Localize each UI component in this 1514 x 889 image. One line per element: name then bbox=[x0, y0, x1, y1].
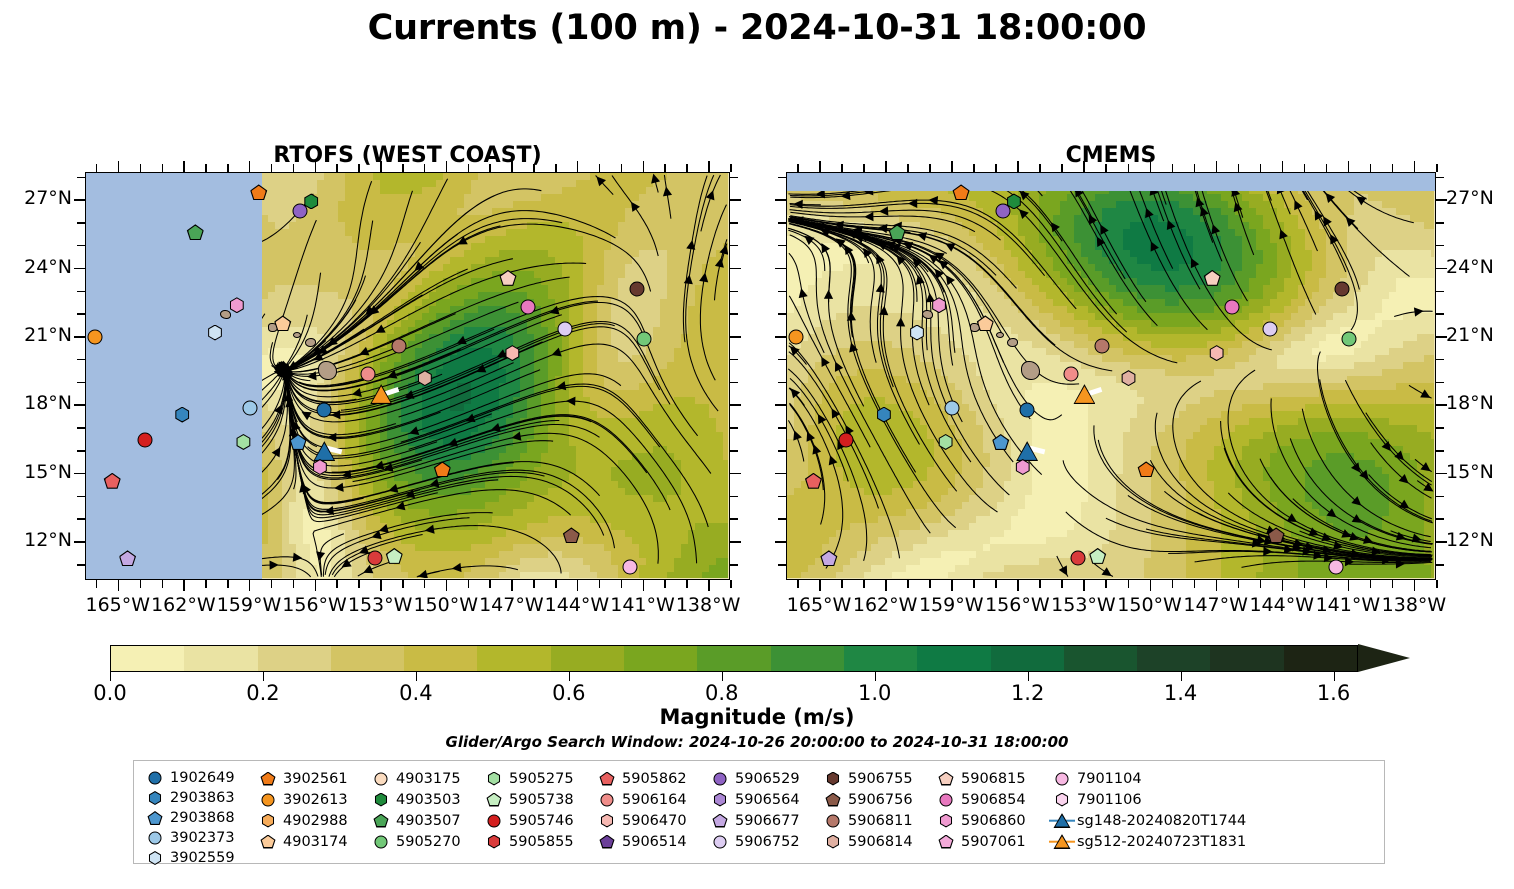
legend-label: 7901104 bbox=[1075, 771, 1142, 787]
legend-item-3902373[interactable]: 3902373 bbox=[142, 828, 255, 848]
marker-glyph bbox=[1225, 300, 1240, 315]
marker-glyph bbox=[187, 224, 204, 240]
x-axis-tick bbox=[140, 164, 142, 172]
marker-glyph bbox=[623, 560, 638, 575]
legend-label: 5905746 bbox=[507, 813, 574, 829]
legend-item-5906564[interactable]: 5906564 bbox=[707, 789, 820, 810]
legend-marker bbox=[594, 769, 620, 789]
y-axis-tick bbox=[77, 382, 85, 384]
x-axis-tick bbox=[951, 161, 953, 172]
map-marker-5906854[interactable] bbox=[517, 296, 539, 318]
map-marker-3902559[interactable] bbox=[204, 322, 226, 344]
y-axis-tick bbox=[775, 404, 786, 406]
y-axis-label-right: 24°N bbox=[1446, 256, 1514, 278]
legend-marker bbox=[820, 832, 846, 852]
x-axis-tick bbox=[841, 580, 843, 588]
y-axis-tick bbox=[778, 496, 786, 498]
marker-glyph bbox=[242, 400, 257, 415]
y-axis-tick bbox=[730, 359, 738, 361]
x-axis-tick bbox=[621, 164, 623, 172]
colorbar-tick-label: 1.0 bbox=[845, 681, 905, 705]
legend-marker bbox=[368, 790, 394, 810]
map-marker-7901104[interactable] bbox=[1325, 556, 1347, 578]
map-marker-2903868[interactable] bbox=[990, 431, 1012, 453]
marker-glyph bbox=[1328, 560, 1343, 575]
map-marker-5906470[interactable] bbox=[501, 342, 523, 364]
legend-marker bbox=[1049, 832, 1075, 852]
marker-glyph bbox=[939, 814, 953, 828]
x-axis-tick bbox=[293, 580, 295, 588]
y-axis-tick bbox=[730, 222, 738, 224]
map-marker-5905862[interactable] bbox=[101, 470, 123, 492]
x-axis-tick bbox=[1172, 164, 1174, 172]
colorbar-band-6 bbox=[551, 646, 624, 671]
marker-glyph bbox=[262, 793, 275, 806]
x-axis-tick bbox=[1039, 580, 1041, 588]
map-marker-5906164[interactable] bbox=[1060, 363, 1082, 385]
colorbar-band-4 bbox=[404, 646, 477, 671]
y-axis-tick bbox=[778, 564, 786, 566]
map-marker-3902559[interactable] bbox=[906, 322, 928, 344]
legend-item-3902613[interactable]: 3902613 bbox=[255, 789, 368, 810]
marker-glyph bbox=[312, 459, 328, 475]
legend-label: 5905270 bbox=[394, 834, 461, 850]
map-marker-5906814[interactable] bbox=[414, 367, 436, 389]
x-axis-tick bbox=[1436, 580, 1438, 588]
legend-item-5906164[interactable]: 5906164 bbox=[594, 789, 707, 810]
map-marker-4903174[interactable] bbox=[272, 312, 294, 334]
y-axis-tick bbox=[1436, 496, 1444, 498]
x-axis-tick bbox=[1039, 164, 1041, 172]
nodata-region-cmems bbox=[787, 173, 1435, 191]
legend-marker bbox=[255, 790, 281, 810]
map-marker-5905270[interactable] bbox=[1338, 328, 1360, 350]
legend-item-5906755[interactable]: 5906755 bbox=[820, 768, 933, 789]
map-marker-5906470[interactable] bbox=[1206, 342, 1228, 364]
colorbar-band-5 bbox=[477, 646, 550, 671]
x-axis-tick bbox=[118, 580, 120, 591]
marker-glyph bbox=[600, 835, 615, 849]
y-axis-tick bbox=[1436, 564, 1444, 566]
marker-glyph bbox=[499, 270, 516, 286]
y-axis-tick bbox=[77, 291, 85, 293]
map-marker-2903863[interactable] bbox=[873, 404, 895, 426]
y-axis-tick bbox=[1436, 177, 1444, 179]
y-axis-tick bbox=[730, 199, 741, 201]
colorbar-tick bbox=[569, 672, 570, 681]
map-marker-5906811[interactable] bbox=[1091, 335, 1113, 357]
marker-glyph bbox=[149, 772, 162, 785]
legend-item-5905746[interactable]: 5905746 bbox=[481, 810, 594, 831]
colorbar-band-15 bbox=[1210, 646, 1283, 671]
legend-label: 5906860 bbox=[959, 813, 1026, 829]
marker-glyph bbox=[953, 184, 970, 200]
x-axis-tick bbox=[1017, 580, 1019, 591]
y-axis-tick bbox=[775, 199, 786, 201]
legend-item-5906514[interactable]: 5906514 bbox=[594, 831, 707, 852]
marker-glyph bbox=[600, 772, 615, 786]
marker-glyph bbox=[938, 434, 954, 450]
y-axis-tick bbox=[77, 177, 85, 179]
x-axis-tick bbox=[1326, 580, 1328, 588]
legend-label: 5906756 bbox=[846, 792, 913, 808]
marker-glyph bbox=[374, 793, 388, 807]
map-marker-4903507[interactable] bbox=[886, 221, 908, 243]
x-axis-tick bbox=[96, 580, 98, 588]
hawaii-island bbox=[996, 332, 1004, 338]
map-marker-5906529[interactable] bbox=[992, 200, 1014, 222]
x-axis-tick bbox=[183, 161, 185, 172]
y-axis-tick bbox=[730, 473, 741, 475]
y-axis-tick bbox=[778, 518, 786, 520]
map-marker-1902649[interactable] bbox=[1016, 399, 1038, 421]
x-axis-tick bbox=[577, 161, 579, 172]
colorbar-tick-label: 0.2 bbox=[233, 681, 293, 705]
legend-item-sg512-20240723T1831[interactable]: sg512-20240723T1831 bbox=[1049, 831, 1229, 852]
map-marker-5906164[interactable] bbox=[357, 363, 379, 385]
map-marker-5906752[interactable] bbox=[554, 318, 576, 340]
x-axis-tick bbox=[1128, 164, 1130, 172]
y-axis-tick bbox=[74, 199, 85, 201]
colorbar-band-13 bbox=[1064, 646, 1137, 671]
x-axis-tick bbox=[315, 161, 317, 172]
map-marker-5906811[interactable] bbox=[388, 335, 410, 357]
marker-glyph bbox=[992, 434, 1009, 450]
marker-glyph bbox=[1341, 332, 1356, 347]
x-axis-tick bbox=[885, 580, 887, 591]
map-marker-3902373[interactable] bbox=[941, 397, 963, 419]
map-marker-7901104[interactable] bbox=[619, 556, 641, 578]
map-marker-5906815[interactable] bbox=[497, 267, 519, 289]
legend-item-7901106[interactable]: 7901106 bbox=[1049, 789, 1229, 810]
colorbar-extend-arrow bbox=[1358, 644, 1410, 672]
marker-glyph bbox=[487, 835, 501, 849]
x-axis-tick bbox=[819, 580, 821, 591]
x-axis-tick bbox=[1392, 580, 1394, 588]
map-marker-2903863[interactable] bbox=[171, 404, 193, 426]
map-marker-5906677[interactable] bbox=[818, 547, 840, 569]
legend[interactable]: 1902649290386329038683902373390255939025… bbox=[133, 760, 1385, 864]
marker-glyph bbox=[714, 772, 727, 785]
legend-label: 2903863 bbox=[168, 790, 235, 806]
map-marker-5905862[interactable] bbox=[802, 470, 824, 492]
x-axis-tick bbox=[643, 161, 645, 172]
legend-label: 4903503 bbox=[394, 792, 461, 808]
marker-glyph bbox=[148, 851, 162, 865]
legend-item-1902649[interactable]: 1902649 bbox=[142, 768, 255, 788]
y-axis-tick bbox=[1436, 245, 1444, 247]
marker-glyph bbox=[1335, 282, 1350, 297]
map-marker-3902561b[interactable] bbox=[431, 458, 453, 480]
marker-glyph bbox=[805, 473, 822, 489]
y-axis-tick bbox=[77, 359, 85, 361]
map-marker-5905738[interactable] bbox=[383, 545, 405, 567]
legend-item-5906815[interactable]: 5906815 bbox=[933, 768, 1049, 789]
x-axis-tick bbox=[1150, 580, 1152, 591]
legend-label: 5906752 bbox=[733, 834, 800, 850]
map-marker-5906814[interactable] bbox=[1118, 367, 1140, 389]
legend-label: 3902561 bbox=[281, 771, 348, 787]
legend-marker bbox=[368, 769, 394, 789]
x-axis-tick bbox=[227, 164, 229, 172]
legend-item-2903863[interactable]: 2903863 bbox=[142, 788, 255, 808]
map-marker-5905855[interactable] bbox=[1067, 547, 1089, 569]
map-marker-5906860b[interactable] bbox=[1012, 456, 1034, 478]
colorbar-tick-label: 0.0 bbox=[80, 681, 140, 705]
map-marker-2903868[interactable] bbox=[287, 431, 309, 453]
legend-item-2903868[interactable]: 2903868 bbox=[142, 808, 255, 828]
x-axis-tick bbox=[1370, 164, 1372, 172]
marker-glyph bbox=[149, 832, 162, 845]
marker-glyph bbox=[148, 791, 162, 805]
x-axis-tick bbox=[907, 164, 909, 172]
legend-column-2: 4903175490350349035075905270 bbox=[368, 768, 481, 863]
y-axis-tick bbox=[1436, 222, 1444, 224]
y-axis-tick bbox=[778, 245, 786, 247]
colorbar-tick bbox=[1028, 672, 1029, 681]
x-axis-tick bbox=[863, 580, 865, 588]
marker-glyph bbox=[820, 550, 837, 566]
legend-label: 5906470 bbox=[620, 813, 687, 829]
x-axis-tick bbox=[907, 580, 909, 588]
x-axis-tick bbox=[468, 164, 470, 172]
legend-item-5905855[interactable]: 5905855 bbox=[481, 831, 594, 852]
legend-item-5906854[interactable]: 5906854 bbox=[933, 789, 1049, 810]
legend-column-1: 3902561390261349029884903174 bbox=[255, 768, 368, 863]
legend-item-4903174[interactable]: 4903174 bbox=[255, 831, 368, 852]
legend-item-5906752[interactable]: 5906752 bbox=[707, 831, 820, 852]
marker-glyph bbox=[939, 835, 954, 849]
hawaii-island bbox=[318, 361, 337, 380]
map-marker-5906756[interactable] bbox=[560, 524, 582, 546]
y-axis-tick bbox=[778, 450, 786, 452]
y-axis-tick bbox=[730, 336, 741, 338]
map-marker-3902613[interactable] bbox=[85, 326, 106, 348]
legend-label: 3902373 bbox=[168, 830, 235, 846]
y-axis-label-right: 15°N bbox=[1446, 461, 1514, 483]
map-marker-3902561[interactable] bbox=[248, 181, 270, 203]
legend-item-5906860[interactable]: 5906860 bbox=[933, 810, 1049, 831]
legend-label: 5905855 bbox=[507, 834, 574, 850]
x-axis-tick bbox=[1216, 161, 1218, 172]
panel-title-rtofs: RTOFS (WEST COAST) bbox=[85, 143, 730, 168]
map-marker-4903507[interactable] bbox=[184, 221, 206, 243]
marker-glyph bbox=[250, 184, 267, 200]
legend-item-3902561[interactable]: 3902561 bbox=[255, 768, 368, 789]
x-axis-tick bbox=[1414, 580, 1416, 591]
y-axis-label-right: 27°N bbox=[1446, 187, 1514, 209]
legend-column-0: 19026492903863290386839023733902559 bbox=[142, 768, 255, 863]
marker-glyph bbox=[520, 300, 535, 315]
legend-marker bbox=[933, 790, 959, 810]
legend-item-4903507[interactable]: 4903507 bbox=[368, 810, 481, 831]
legend-label: 5905738 bbox=[507, 792, 574, 808]
map-marker-5906854[interactable] bbox=[1221, 296, 1243, 318]
marker-glyph bbox=[1070, 551, 1085, 566]
y-axis-tick bbox=[778, 427, 786, 429]
legend-marker bbox=[142, 808, 168, 828]
map-marker-sg512-20240723T1831[interactable] bbox=[1073, 383, 1095, 405]
x-axis-tick bbox=[1282, 580, 1284, 591]
colorbar-band-0 bbox=[111, 646, 184, 671]
map-marker-3902561b[interactable] bbox=[1135, 458, 1157, 480]
legend-label: 5906755 bbox=[846, 771, 913, 787]
x-axis-tick bbox=[1304, 580, 1306, 588]
marker-glyph bbox=[374, 814, 389, 828]
x-axis-tick bbox=[730, 580, 732, 588]
marker-glyph bbox=[940, 793, 953, 806]
y-axis-tick bbox=[730, 450, 738, 452]
legend-label: 5906529 bbox=[733, 771, 800, 787]
map-marker-5905275[interactable] bbox=[232, 431, 254, 453]
x-axis-tick bbox=[929, 164, 931, 172]
x-axis-tick bbox=[162, 580, 164, 588]
map-marker-5905746[interactable] bbox=[134, 429, 156, 451]
map-marker-5906860b[interactable] bbox=[309, 456, 331, 478]
legend-item-5905270[interactable]: 5905270 bbox=[368, 831, 481, 852]
map-marker-5906752[interactable] bbox=[1259, 318, 1281, 340]
legend-item-3902559[interactable]: 3902559 bbox=[142, 848, 255, 868]
map-marker-3902561[interactable] bbox=[950, 181, 972, 203]
legend-item-5906677[interactable]: 5906677 bbox=[707, 810, 820, 831]
legend-marker bbox=[594, 832, 620, 852]
y-axis-tick bbox=[730, 291, 738, 293]
y-axis-tick bbox=[77, 245, 85, 247]
map-marker-5905746[interactable] bbox=[835, 429, 857, 451]
legend-item-5906756[interactable]: 5906756 bbox=[820, 789, 933, 810]
y-axis-tick bbox=[730, 427, 738, 429]
colorbar-band-1 bbox=[184, 646, 257, 671]
map-marker-5906755[interactable] bbox=[626, 278, 648, 300]
marker-glyph bbox=[826, 835, 840, 849]
x-axis-tick bbox=[271, 580, 273, 588]
marker-glyph bbox=[1138, 461, 1155, 477]
marker-glyph bbox=[417, 370, 433, 386]
legend-item-4903175[interactable]: 4903175 bbox=[368, 768, 481, 789]
map-marker-5906755[interactable] bbox=[1331, 278, 1353, 300]
legend-item-5906811[interactable]: 5906811 bbox=[820, 810, 933, 831]
x-axis-tick bbox=[1414, 161, 1416, 172]
x-axis-tick bbox=[1105, 164, 1107, 172]
x-axis-tick bbox=[380, 161, 382, 172]
legend-marker bbox=[820, 769, 846, 789]
map-marker-sg512-20240723T1831[interactable] bbox=[370, 383, 392, 405]
map-marker-5906860[interactable] bbox=[928, 294, 950, 316]
legend-item-sg148-20240820T1744[interactable]: sg148-20240820T1744 bbox=[1049, 810, 1229, 831]
marker-glyph bbox=[261, 814, 275, 828]
map-marker-1902649[interactable] bbox=[313, 399, 335, 421]
colorbar-band-2 bbox=[258, 646, 331, 671]
legend-item-4903503[interactable]: 4903503 bbox=[368, 789, 481, 810]
marker-glyph bbox=[977, 315, 994, 331]
map-marker-3902613[interactable] bbox=[786, 326, 807, 348]
x-axis-tick bbox=[577, 580, 579, 591]
x-axis-tick bbox=[599, 580, 601, 588]
x-axis-tick bbox=[708, 161, 710, 172]
marker-glyph bbox=[1204, 270, 1221, 286]
map-marker-5906677[interactable] bbox=[117, 547, 139, 569]
legend-item-5907061[interactable]: 5907061 bbox=[933, 831, 1049, 852]
legend-marker bbox=[594, 811, 620, 831]
marker-glyph bbox=[229, 297, 245, 313]
x-axis-tick bbox=[599, 164, 601, 172]
legend-label: 7901106 bbox=[1075, 792, 1142, 808]
x-axis-tick bbox=[1128, 580, 1130, 588]
y-axis-label-left: 21°N bbox=[0, 324, 72, 346]
legend-item-4902988[interactable]: 4902988 bbox=[255, 810, 368, 831]
x-axis-tick bbox=[205, 164, 207, 172]
map-marker-5906860[interactable] bbox=[226, 294, 248, 316]
y-axis-tick bbox=[74, 541, 85, 543]
x-axis-tick bbox=[336, 164, 338, 172]
y-axis-tick bbox=[730, 518, 738, 520]
marker-glyph bbox=[261, 772, 276, 786]
marker-glyph bbox=[293, 203, 308, 218]
y-axis-tick bbox=[730, 177, 738, 179]
legend-label: 5906814 bbox=[846, 834, 913, 850]
marker-glyph bbox=[119, 550, 136, 566]
y-axis-tick bbox=[1436, 450, 1444, 452]
legend-item-7901104[interactable]: 7901104 bbox=[1049, 768, 1229, 789]
colorbar-band-14 bbox=[1137, 646, 1210, 671]
marker-glyph bbox=[713, 793, 727, 807]
legend-label: 3902613 bbox=[281, 792, 348, 808]
legend-item-5905862[interactable]: 5905862 bbox=[594, 768, 707, 789]
colorbar-gradient bbox=[110, 645, 1358, 672]
x-axis-tick bbox=[797, 580, 799, 588]
x-axis-label: 138°W bbox=[1372, 594, 1456, 616]
map-marker-5905738[interactable] bbox=[1087, 545, 1109, 567]
marker-glyph bbox=[367, 551, 382, 566]
marker-glyph bbox=[434, 461, 451, 477]
x-axis-tick bbox=[1017, 161, 1019, 172]
marker-glyph bbox=[636, 332, 651, 347]
legend-item-5906814[interactable]: 5906814 bbox=[820, 831, 933, 852]
map-marker-5905275[interactable] bbox=[935, 431, 957, 453]
legend-item-5906529[interactable]: 5906529 bbox=[707, 768, 820, 789]
colorbar-tick bbox=[416, 672, 417, 681]
marker-glyph bbox=[488, 814, 501, 827]
x-axis-tick bbox=[863, 164, 865, 172]
colorbar-tick bbox=[1181, 672, 1182, 681]
legend-marker bbox=[255, 832, 281, 852]
map-marker-3902373[interactable] bbox=[239, 397, 261, 419]
x-axis-tick bbox=[489, 164, 491, 172]
map-marker-4903174[interactable] bbox=[974, 312, 996, 334]
legend-item-5906470[interactable]: 5906470 bbox=[594, 810, 707, 831]
map-marker-5906756[interactable] bbox=[1265, 524, 1287, 546]
colorbar-band-9 bbox=[771, 646, 844, 671]
legend-item-5905275[interactable]: 5905275 bbox=[481, 768, 594, 789]
map-marker-5905270[interactable] bbox=[633, 328, 655, 350]
legend-item-5905738[interactable]: 5905738 bbox=[481, 789, 594, 810]
marker-glyph bbox=[601, 793, 614, 806]
x-axis-tick bbox=[1348, 580, 1350, 591]
x-axis-tick bbox=[730, 164, 732, 172]
map-panel-cmems[interactable] bbox=[786, 172, 1436, 580]
search-window-subtitle: Glider/Argo Search Window: 2024-10-26 20… bbox=[0, 733, 1514, 751]
map-marker-5906815[interactable] bbox=[1201, 267, 1223, 289]
map-panel-rtofs[interactable] bbox=[85, 172, 730, 580]
legend-marker bbox=[707, 769, 733, 789]
legend-column-3: 5905275590573859057465905855 bbox=[481, 768, 594, 863]
legend-label: sg148-20240820T1744 bbox=[1075, 813, 1246, 829]
x-axis-tick bbox=[140, 580, 142, 588]
map-marker-5906529[interactable] bbox=[289, 200, 311, 222]
x-axis-tick bbox=[995, 580, 997, 588]
x-axis-tick bbox=[1083, 161, 1085, 172]
y-axis-tick bbox=[74, 268, 85, 270]
